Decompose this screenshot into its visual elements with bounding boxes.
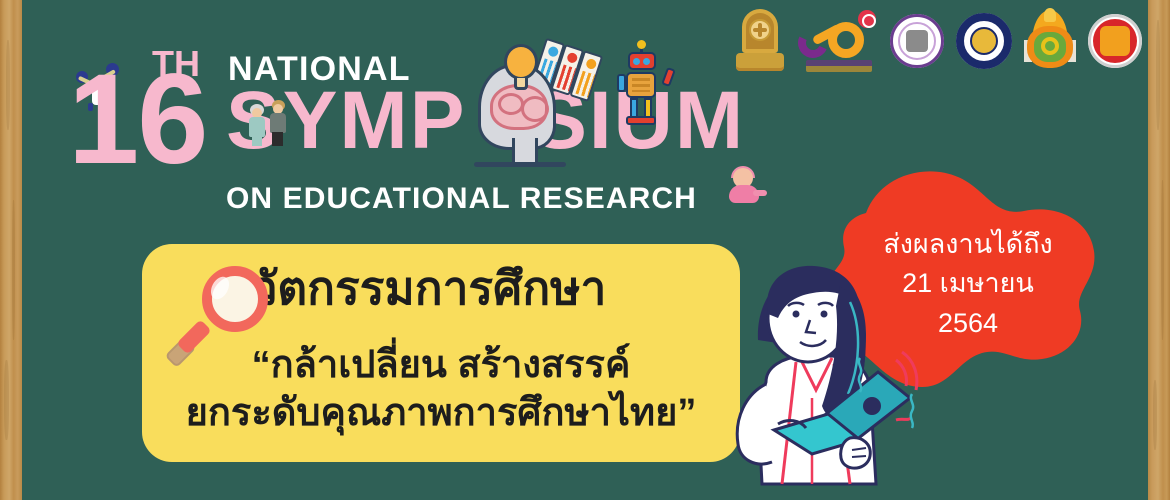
headline-subtitle: ON EDUCATIONAL RESEARCH (226, 182, 697, 216)
poster-canvas: 16 TH NATIONAL SYMPOSIUM ON EDUCATIONAL … (0, 0, 1170, 500)
seal-blue-icon (956, 13, 1012, 69)
figure-elderly-couple-icon (248, 96, 290, 148)
figure-woman-with-laptop-icon (700, 248, 940, 500)
edition-suffix: TH (152, 46, 200, 82)
figure-head-brain-lightbulb-icon (464, 38, 604, 188)
headline-block: 16 TH NATIONAL SYMPOSIUM ON EDUCATIONAL … (68, 18, 828, 238)
wooden-frame-right (1148, 0, 1170, 500)
deadline-line-3: 2564 (938, 306, 998, 342)
magnifier-icon (174, 266, 270, 370)
wooden-frame-left (0, 0, 22, 500)
seal-red-icon (1088, 14, 1142, 68)
theme-title: นวัตกรรมการศึกษา (220, 262, 740, 315)
seal-purple-icon (890, 14, 944, 68)
theme-title-row: นวัตกรรมการศึกษา (220, 262, 740, 315)
figure-baby-icon (723, 168, 767, 212)
flame-emblem-icon (1024, 10, 1076, 72)
figure-robot-toy-icon (618, 50, 670, 128)
theme-card: นวัตกรรมการศึกษา “กล้าเปลี่ยน สร้างสรรค์… (142, 244, 740, 462)
theme-subtitle-line-2: ยกระดับคุณภาพการศึกษาไทย” (142, 390, 740, 436)
